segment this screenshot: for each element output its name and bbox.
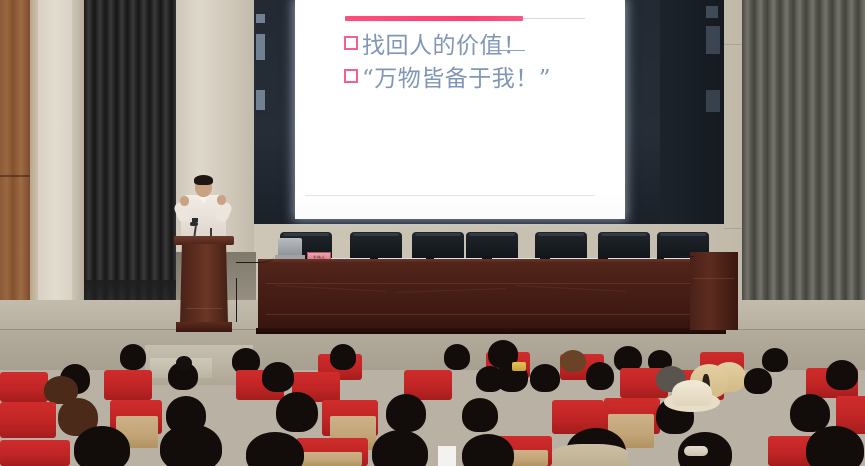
auditorium-photo: 找回人的价值！ “万物皆备于我！”: [0, 0, 865, 466]
frame-reflection: [706, 6, 718, 18]
podium-panel-line: [186, 308, 222, 313]
podium-base: [176, 322, 232, 332]
audience-head: [74, 426, 130, 466]
slide-content: 找回人的价值！ “万物皆备于我！”: [295, 0, 625, 219]
audience-head: [826, 360, 858, 390]
square-bullet-icon: [344, 69, 358, 83]
audience-seat: [0, 440, 70, 466]
audience-head: [386, 394, 426, 432]
audience-head: [444, 344, 470, 370]
audience-seat: [0, 402, 56, 438]
audience-head: [806, 426, 864, 466]
speaker-hand-left: [180, 196, 189, 206]
audience-head: [586, 362, 614, 390]
audience-head: [560, 350, 586, 372]
speaker-hair: [194, 175, 213, 185]
audience-head: [246, 432, 304, 466]
laptop-screen: [278, 238, 302, 256]
desk-plinth: [256, 328, 726, 334]
audience-seat-cushion: [300, 452, 362, 466]
paper-sheet: [438, 446, 456, 466]
frame-reflection: [256, 34, 265, 60]
audience-head: [276, 392, 318, 432]
slide-accent-rule: [345, 16, 523, 21]
frame-reflection: [706, 90, 720, 112]
slide-bullet-1: 找回人的价值！: [344, 26, 527, 60]
stage-curtain-right: [742, 0, 865, 330]
audience-seat: [0, 372, 48, 402]
audience-section: [0, 340, 865, 466]
frame-reflection: [706, 26, 720, 54]
stage-curtain-left: [84, 0, 176, 310]
frame-reflection: [256, 90, 265, 110]
cable: [236, 278, 259, 322]
audience-head: [120, 344, 146, 370]
cable: [236, 248, 274, 263]
slide-accent-rule-tail: [523, 18, 585, 19]
bucket-hat: [672, 380, 712, 406]
desk-moulding: [266, 283, 716, 284]
desk-moulding: [266, 314, 716, 315]
audience-shoulders: [552, 444, 628, 466]
audience-head: [372, 430, 428, 466]
audience-head: [762, 348, 788, 372]
hair-bun: [176, 356, 192, 370]
podium: [174, 236, 234, 336]
audience-head: [744, 368, 772, 394]
audience-head: [330, 344, 356, 370]
frame-reflection: [256, 14, 265, 23]
slide-bullet-1-text: 找回人的价值！: [362, 26, 527, 60]
side-cabinet: [690, 252, 738, 330]
hair-clip: [512, 362, 526, 371]
speaker-figure: [176, 176, 230, 238]
audience-head: [160, 424, 222, 466]
square-bullet-icon: [344, 36, 358, 50]
audience-seat: [104, 370, 152, 400]
audience-head: [462, 398, 498, 432]
slide-bullet-1-underline: [491, 50, 525, 51]
slide-bullet-2-text: “万物皆备于我！”: [362, 59, 551, 93]
audience-head: [790, 394, 830, 432]
audience-head: [262, 362, 294, 392]
audience-head: [530, 364, 560, 392]
speaker-hand-right: [217, 195, 226, 205]
podium-top: [174, 236, 234, 245]
hair-scrunchie: [684, 446, 708, 456]
slide-bullet-2: “万物皆备于我！”: [344, 59, 551, 93]
